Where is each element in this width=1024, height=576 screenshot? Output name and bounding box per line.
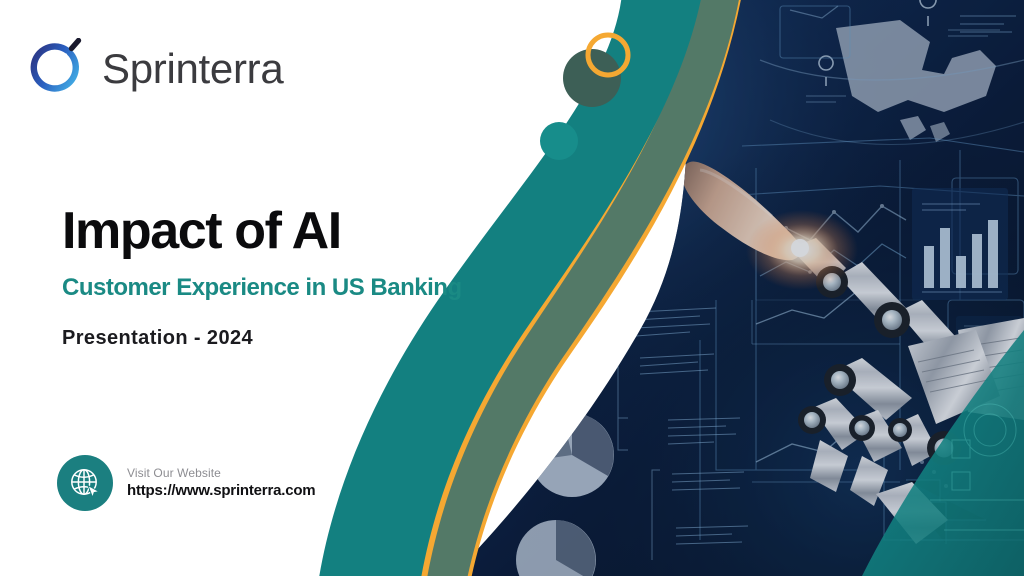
sage-filled-circle — [563, 49, 621, 107]
website-text: Visit Our Website https://www.sprinterra… — [127, 465, 315, 501]
brand-logo[interactable]: Sprinterra — [26, 38, 283, 100]
website-link[interactable]: Visit Our Website https://www.sprinterra… — [57, 455, 315, 511]
page-title: Impact of AI — [62, 202, 462, 260]
title-block: Impact of AI Customer Experience in US B… — [62, 202, 462, 350]
presentation-meta: Presentation - 2024 — [62, 327, 462, 350]
globe-badge — [57, 455, 113, 511]
brand-name: Sprinterra — [102, 48, 283, 90]
website-label: Visit Our Website — [127, 465, 315, 481]
sprinterra-ring-logo-icon — [26, 38, 88, 100]
presentation-slide: Sprinterra Impact of AI Customer Experie… — [0, 0, 1024, 576]
page-subtitle: Customer Experience in US Banking — [62, 274, 462, 303]
teal-filled-circle — [540, 122, 578, 160]
globe-cursor-icon — [68, 466, 102, 500]
website-url[interactable]: https://www.sprinterra.com — [127, 481, 315, 501]
